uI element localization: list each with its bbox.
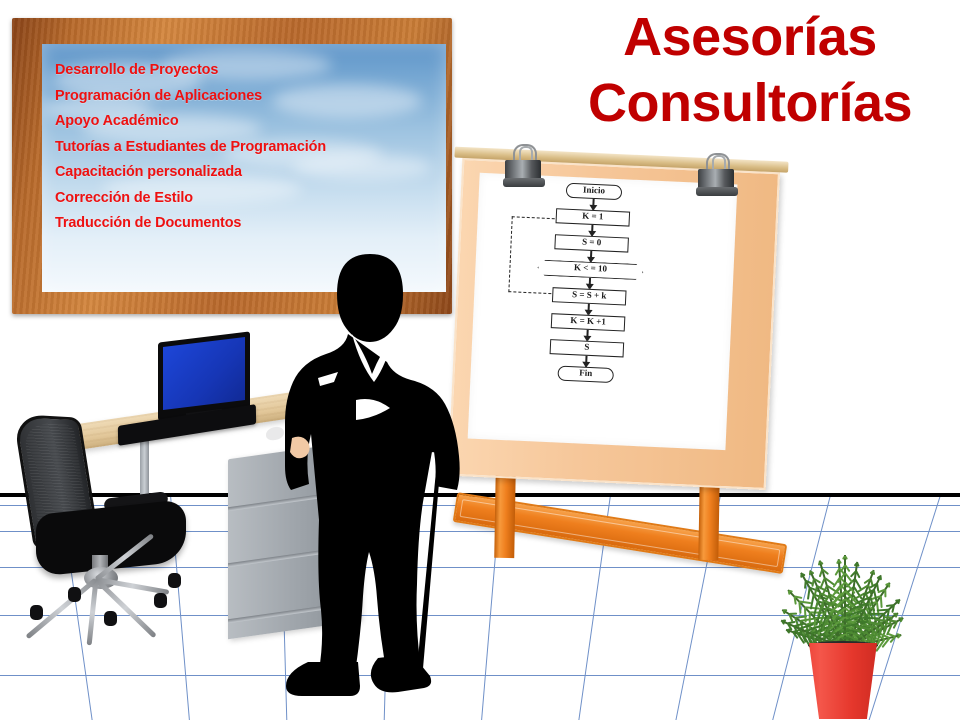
frond-leaflet [803, 607, 806, 622]
chair-caster [168, 573, 181, 588]
flowchart-loop-edge [508, 216, 559, 294]
flow-node-fin: Fin [557, 366, 614, 384]
floor-line [944, 495, 960, 720]
chair-caster [154, 593, 167, 608]
frond-leaflet [804, 581, 807, 589]
title-line-2: Consultorías [540, 70, 960, 136]
flow-node-increment: K = K +1 [551, 313, 626, 331]
service-item: Traducción de Documentos [55, 211, 446, 237]
services-list: Desarrollo de ProyectosProgramación de A… [55, 58, 446, 237]
poster-canvas: Desarrollo de ProyectosProgramación de A… [0, 0, 960, 720]
flower-pot [797, 643, 889, 719]
service-item: Corrección de Estilo [55, 186, 446, 212]
clip-body [698, 169, 734, 189]
flowchart: Inicio K = 1 S = 0 K < = 10 S = S + k K … [510, 181, 669, 386]
flow-edge-1 [592, 199, 594, 210]
clip-body [505, 160, 541, 180]
poster-title: Asesorías Consultorías [540, 4, 960, 136]
title-line-1: Asesorías [540, 4, 960, 70]
frond-leaflet [880, 596, 883, 608]
frond-leaflet [898, 617, 902, 619]
office-chair[interactable] [8, 415, 218, 645]
frond-leaflet [809, 613, 811, 630]
flow-edge-6 [587, 330, 589, 341]
frond-leaflet [800, 574, 802, 578]
service-item: Capacitación personalizada [55, 160, 446, 186]
flow-edge-3 [590, 251, 592, 262]
flow-edge-2 [591, 225, 593, 236]
potted-palm [755, 505, 945, 715]
clip-lip [503, 178, 545, 187]
flow-edge-5 [588, 304, 590, 315]
chair-spoke [87, 579, 99, 645]
chair-caster [30, 605, 43, 620]
flow-node-inicio: Inicio [566, 183, 623, 201]
service-item: Programación de Aplicaciones [55, 84, 446, 110]
flow-edge-4 [589, 278, 591, 289]
service-item: Tutorías a Estudiantes de Programación [55, 135, 446, 161]
service-item: Desarrollo de Proyectos [55, 58, 446, 84]
service-item: Apoyo Académico [55, 109, 446, 135]
man-in-suit-silhouette [282, 250, 482, 700]
flow-node-s0: S = 0 [554, 234, 629, 252]
flow-node-sum: S = S + k [552, 287, 627, 305]
flow-node-k1: K = 1 [556, 208, 631, 226]
chair-caster [68, 587, 81, 602]
flow-node-output: S [550, 339, 625, 357]
frond-leaflet [807, 588, 811, 600]
chair-caster [104, 611, 117, 626]
easel-paper: Inicio K = 1 S = 0 K < = 10 S = S + k K … [468, 173, 738, 450]
clip-lip [696, 187, 738, 196]
flow-edge-7 [585, 356, 587, 367]
frond-leaflet [884, 616, 892, 618]
easel-board[interactable]: Inicio K = 1 S = 0 K < = 10 S = S + k K … [448, 158, 780, 490]
monitor-screen [163, 337, 245, 410]
